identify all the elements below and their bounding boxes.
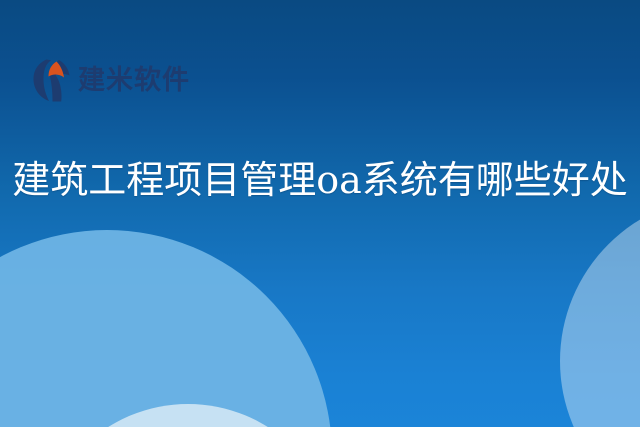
logo[interactable]: 建米软件 [32, 57, 190, 103]
decorative-circle-left [0, 230, 332, 427]
decorative-circle-right [560, 196, 640, 427]
decorative-circle-bottom [38, 404, 338, 427]
page-title: 建筑工程项目管理oa系统有哪些好处 [0, 155, 640, 205]
logo-mark-icon [32, 58, 72, 102]
logo-text: 建米软件 [78, 67, 190, 94]
banner: 建米软件 建筑工程项目管理oa系统有哪些好处 [0, 0, 640, 427]
